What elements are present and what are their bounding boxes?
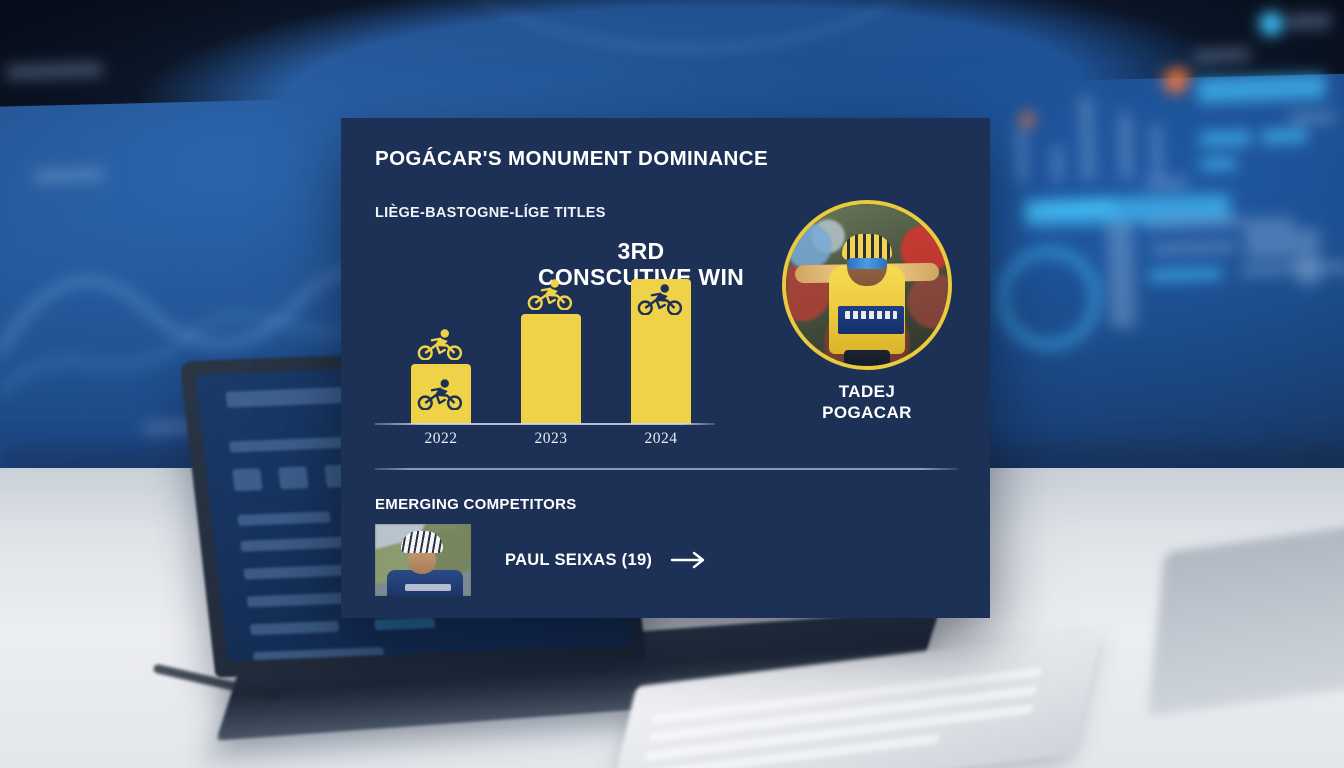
headline-line-1: 3RD [491, 238, 791, 264]
arrow-right-icon[interactable] [670, 550, 708, 570]
chart-baseline-axis [375, 423, 715, 425]
competitor-name: PAUL SEIXAS (19) [505, 551, 652, 570]
competitor-thumbnail [375, 524, 471, 596]
cyclist-icon [527, 278, 575, 310]
titles-bar-chart: 2022 2023 2024 [375, 268, 715, 446]
x-tick-2023: 2023 [515, 430, 587, 448]
cyclist-icon [417, 328, 465, 360]
athlete-name: TADEJ POGACAR [778, 382, 956, 423]
competitor-jersey [387, 570, 463, 596]
helmet-icon [401, 531, 443, 553]
bar-2022 [411, 364, 471, 424]
chart-subtitle: LIÈGE-BASTOGNE-LÍGE TITLES [375, 205, 606, 221]
page-title: POGÁCAR'S MONUMENT DOMINANCE [375, 148, 956, 171]
section-divider [375, 468, 958, 470]
chart-bars [375, 274, 715, 424]
x-tick-2024: 2024 [625, 430, 697, 448]
desk-object-right [1147, 523, 1344, 716]
bar-group-2024 [625, 279, 697, 424]
cycling-shorts [844, 350, 890, 370]
sunglasses-icon [847, 258, 887, 269]
infographic-card: POGÁCAR'S MONUMENT DOMINANCE LIÈGE-BASTO… [341, 118, 990, 618]
bar-group-2023 [515, 278, 587, 424]
featured-athlete: TADEJ POGACAR [778, 200, 956, 423]
bar-2024 [631, 279, 691, 424]
athlete-first-name: TADEJ [778, 382, 956, 403]
x-tick-2022: 2022 [405, 430, 477, 448]
list-item[interactable]: PAUL SEIXAS (19) [375, 524, 708, 596]
cyclist-icon [417, 378, 465, 410]
cyclist-icon [637, 283, 685, 315]
emerging-competitors-title: EMERGING COMPETITORS [375, 496, 577, 513]
athlete-last-name: POGACAR [778, 403, 956, 424]
bar-2023 [521, 314, 581, 424]
jersey-sponsor-logo [838, 306, 904, 334]
helmet-icon [842, 234, 892, 260]
bar-group-2022 [405, 328, 477, 424]
athlete-photo [782, 200, 952, 370]
